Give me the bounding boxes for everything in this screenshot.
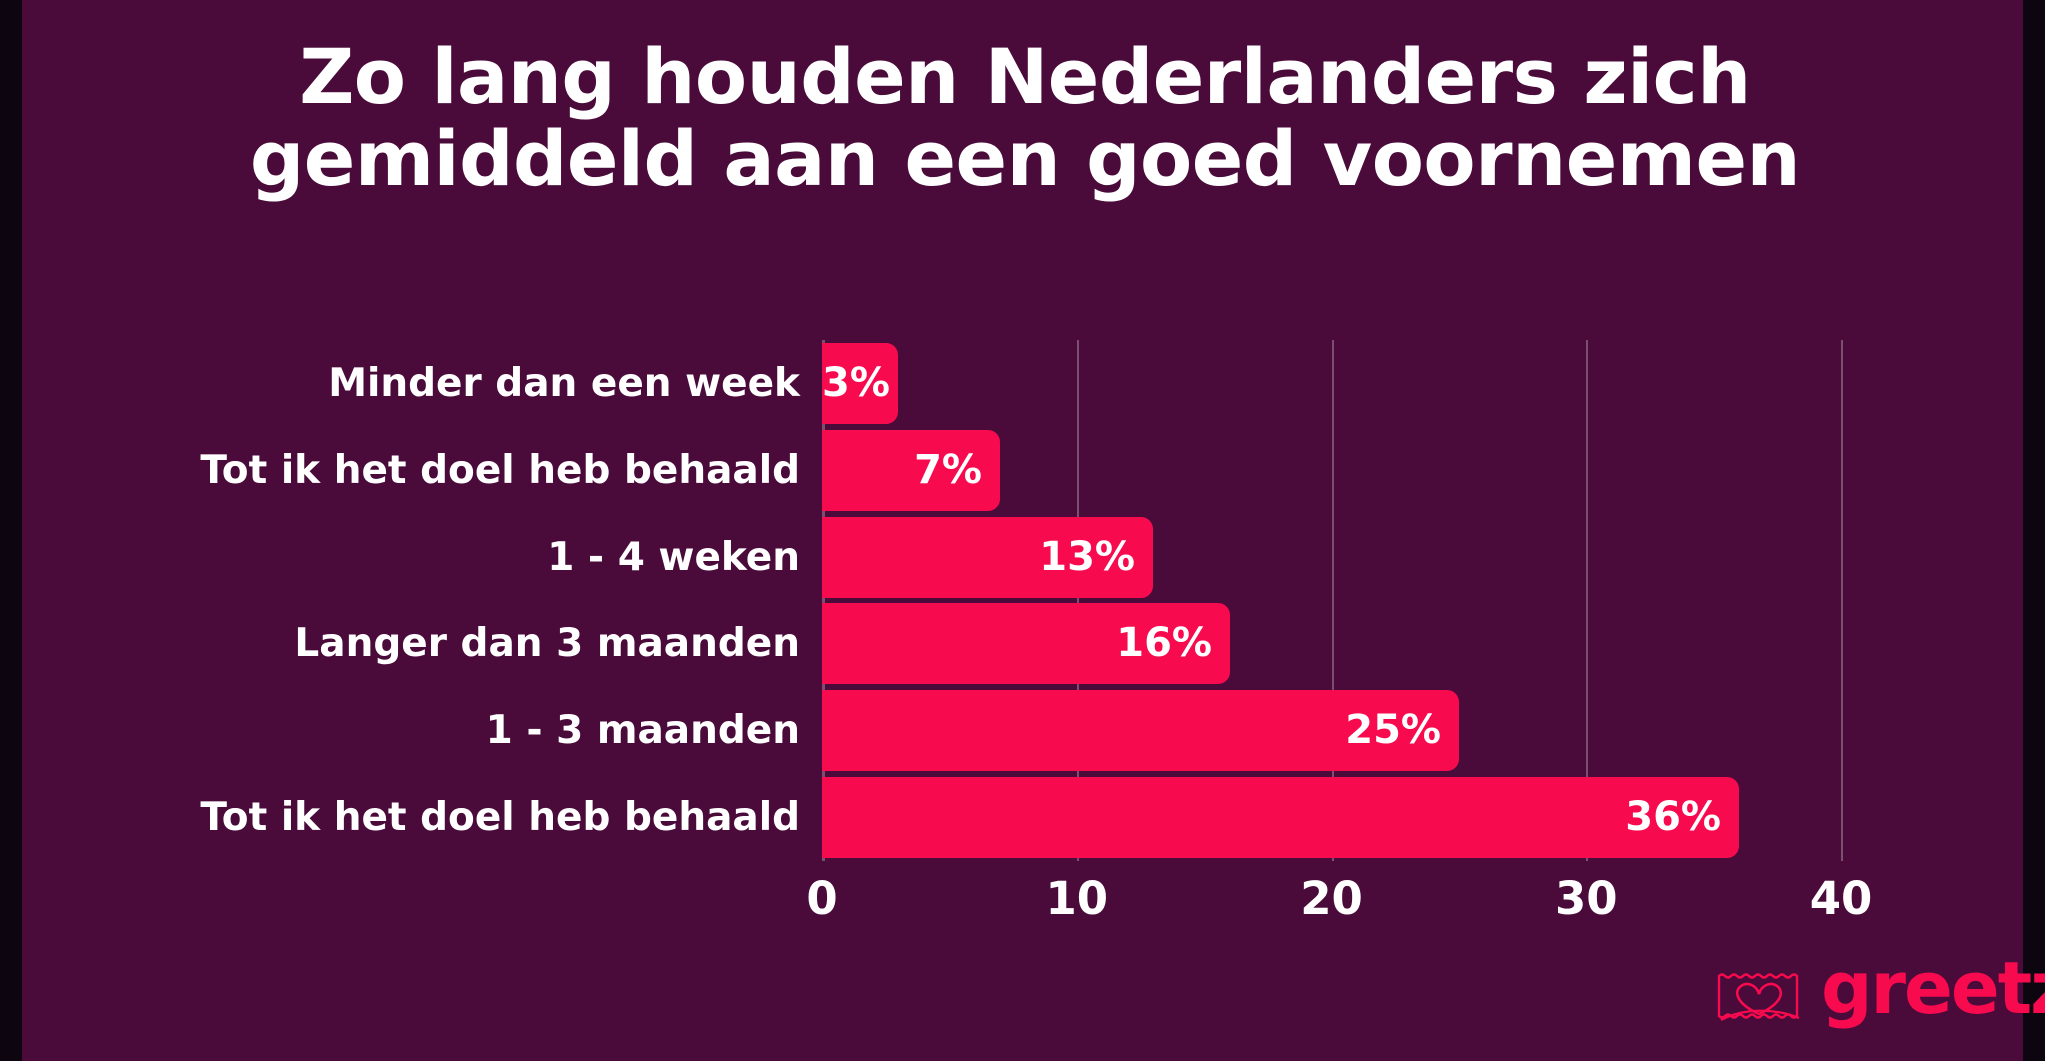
bar-value-label: 13% (822, 517, 1135, 598)
gridline (1841, 340, 1843, 861)
bar-row: 36% (822, 777, 1841, 858)
stamp-heart-icon (1713, 962, 1809, 1032)
plot-area: 3%7%13%16%25%36% (822, 340, 1841, 861)
greetz-logo[interactable]: greetz (1713, 960, 2001, 1032)
x-tick-label: 20 (1300, 872, 1363, 925)
bar-row: 25% (822, 690, 1841, 771)
bar-value-label: 3% (822, 343, 880, 424)
bar-value-label: 16% (822, 603, 1212, 684)
infographic-canvas: Zo lang houden Nederlanders zich gemidde… (0, 0, 2045, 1061)
category-label: Langer dan 3 maanden (100, 603, 800, 684)
category-label: Tot ik het doel heb behaald (100, 430, 800, 511)
category-label: Minder dan een week (100, 343, 800, 424)
greetz-wordmark: greetz (1821, 952, 2045, 1024)
bar-row: 3% (822, 343, 1841, 424)
category-label: 1 - 3 maanden (100, 690, 800, 771)
bar-value-label: 36% (822, 777, 1721, 858)
bar-chart: 3%7%13%16%25%36% 010203040 Minder dan ee… (0, 0, 2045, 1061)
bar-value-label: 7% (822, 430, 982, 511)
x-tick-label: 0 (806, 872, 837, 925)
bar-row: 13% (822, 517, 1841, 598)
category-label: Tot ik het doel heb behaald (100, 777, 800, 858)
x-tick-label: 30 (1555, 872, 1618, 925)
bar-value-label: 25% (822, 690, 1441, 771)
bar-row: 16% (822, 603, 1841, 684)
category-label: 1 - 4 weken (100, 517, 800, 598)
x-tick-label: 40 (1810, 872, 1873, 925)
x-tick-label: 10 (1045, 872, 1108, 925)
bar-row: 7% (822, 430, 1841, 511)
